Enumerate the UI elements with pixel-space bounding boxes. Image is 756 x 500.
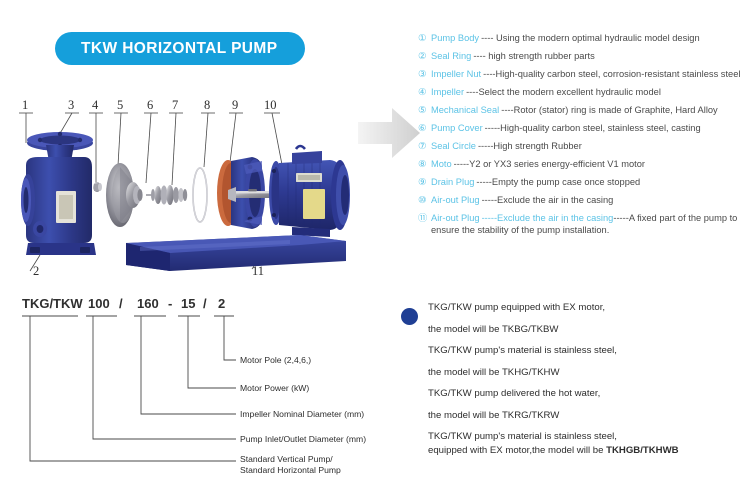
part-number: ③ — [418, 69, 431, 81]
callout-6: 6 — [147, 98, 153, 112]
model-code-leader-lines: Motor Pole (2,4,6,) Motor Power (kW) Imp… — [0, 292, 395, 492]
part-description: ---- Using the modern optimal hydraulic … — [481, 33, 700, 43]
part-number: ⑧ — [418, 159, 431, 171]
part-row: ⑩ Air-out Plug-----Exclude the air in th… — [418, 195, 752, 207]
part-number: ⑩ — [418, 195, 431, 207]
part-description: ----Rotor (stator) ring is made of Graph… — [501, 105, 717, 115]
part-number: ⑤ — [418, 105, 431, 117]
parts-list: ① Pump Body---- Using the modern optimal… — [418, 33, 752, 243]
part-description-highlight: -----Exclude the air in the casing — [482, 213, 614, 223]
callout-2: 2 — [33, 264, 39, 278]
leader-label-motor-pole: Motor Pole (2,4,6,) — [240, 355, 311, 365]
part-description: -----Empty the pump case once stopped — [476, 177, 640, 187]
part-number: ⑨ — [418, 177, 431, 189]
part-name: Air-out Plug — [431, 213, 480, 223]
part-description: -----High-quality carbon steel, stainles… — [485, 123, 701, 133]
page-root: TKW HORIZONTAL PUMP — [0, 0, 756, 500]
part-name: Impeller — [431, 87, 464, 97]
note-line: TKG/TKW pump delivered the hot water, — [428, 388, 753, 399]
part-number: ② — [418, 51, 431, 63]
callout-1: 1 — [22, 98, 28, 112]
note-line: TKG/TKW pump equipped with EX motor, — [428, 302, 753, 313]
part-name: Drain Plug — [431, 177, 474, 187]
part-description: -----A fixed part of the pump to — [613, 213, 737, 223]
leader-label-standard-horizontal: Standard Horizontal Pump — [240, 465, 341, 475]
leader-label-standard-vertical: Standard Vertical Pump/ — [240, 454, 333, 464]
part-description-line2: ensure the stability of the pump install… — [431, 225, 609, 235]
note-line: TKG/TKW pump's material is stainless ste… — [428, 345, 753, 356]
part-name: Seal Circle — [431, 141, 476, 151]
leader-label-motor-power: Motor Power (kW) — [240, 383, 309, 393]
part-number: ⑥ — [418, 123, 431, 135]
part-description: ----Select the modern excellent hydrauli… — [466, 87, 661, 97]
part-row: ⑧ Moto-----Y2 or YX3 series energy-effic… — [418, 159, 752, 171]
part-number: ④ — [418, 87, 431, 99]
bullet-dot-icon — [401, 308, 418, 325]
page-title: TKW HORIZONTAL PUMP — [81, 40, 277, 58]
title-banner: TKW HORIZONTAL PUMP — [55, 32, 305, 65]
exploded-pump-diagram: 1 2 3 4 5 6 7 8 9 10 11 — [0, 95, 400, 290]
model-variant-notes: TKG/TKW pump equipped with EX motor, the… — [398, 302, 753, 467]
note-line: the model will be TKRG/TKRW — [428, 410, 753, 421]
part-row: ⑨ Drain Plug-----Empty the pump case onc… — [418, 177, 752, 189]
part-row: ④ Impeller----Select the modern excellen… — [418, 87, 752, 99]
part-row: ③ Impeller Nut----High-quality carbon st… — [418, 69, 752, 81]
callout-9: 9 — [232, 98, 238, 112]
part-name: Pump Body — [431, 33, 479, 43]
callout-7: 7 — [172, 98, 178, 112]
part-description: -----Y2 or YX3 series energy-efficient V… — [454, 159, 645, 169]
callout-4: 4 — [92, 98, 99, 112]
part-description: ----High-quality carbon steel, corrosion… — [483, 69, 740, 79]
callout-8: 8 — [204, 98, 210, 112]
note-line: TKG/TKW pump's material is stainless ste… — [428, 431, 753, 442]
part-description: ---- high strength rubber parts — [473, 51, 594, 61]
note-line-bold-model: TKHGB/TKHWB — [606, 445, 678, 456]
callout-3: 3 — [68, 98, 74, 112]
part-number: ⑪ — [418, 213, 431, 225]
callout-11: 11 — [252, 264, 264, 278]
part-name: Moto — [431, 159, 452, 169]
note-line: the model will be TKBG/TKBW — [428, 324, 753, 335]
model-code-block: TKG/TKW 100 / 160 - 15 / 2 — [0, 292, 395, 492]
leader-label-inlet-outlet: Pump Inlet/Outlet Diameter (mm) — [240, 434, 366, 444]
part-row: ⑪ Air-out Plug-----Exclude the air in th… — [418, 213, 752, 236]
note-line-final: equipped with EX motor,the model will be… — [428, 445, 753, 456]
part-number: ⑦ — [418, 141, 431, 153]
callout-5: 5 — [117, 98, 123, 112]
leader-label-impeller-diameter: Impeller Nominal Diameter (mm) — [240, 409, 364, 419]
note-line: the model will be TKHG/TKHW — [428, 367, 753, 378]
part-description: -----Exclude the air in the casing — [482, 195, 614, 205]
transition-arrow — [356, 102, 422, 164]
part-row: ⑦ Seal Circle-----High strength Rubber — [418, 141, 752, 153]
part-description: -----High strength Rubber — [478, 141, 582, 151]
part-name: Impeller Nut — [431, 69, 481, 79]
part-name: Pump Cover — [431, 123, 483, 133]
part-row: ① Pump Body---- Using the modern optimal… — [418, 33, 752, 45]
part-number: ① — [418, 33, 431, 45]
note-line-text: equipped with EX motor,the model will be — [428, 445, 606, 456]
part-row: ⑤ Mechanical Seal----Rotor (stator) ring… — [418, 105, 752, 117]
part-name: Seal Ring — [431, 51, 471, 61]
part-row: ② Seal Ring---- high strength rubber par… — [418, 51, 752, 63]
part-name: Mechanical Seal — [431, 105, 499, 115]
part-name: Air-out Plug — [431, 195, 480, 205]
part-row: ⑥ Pump Cover-----High-quality carbon ste… — [418, 123, 752, 135]
callout-10: 10 — [264, 98, 277, 112]
